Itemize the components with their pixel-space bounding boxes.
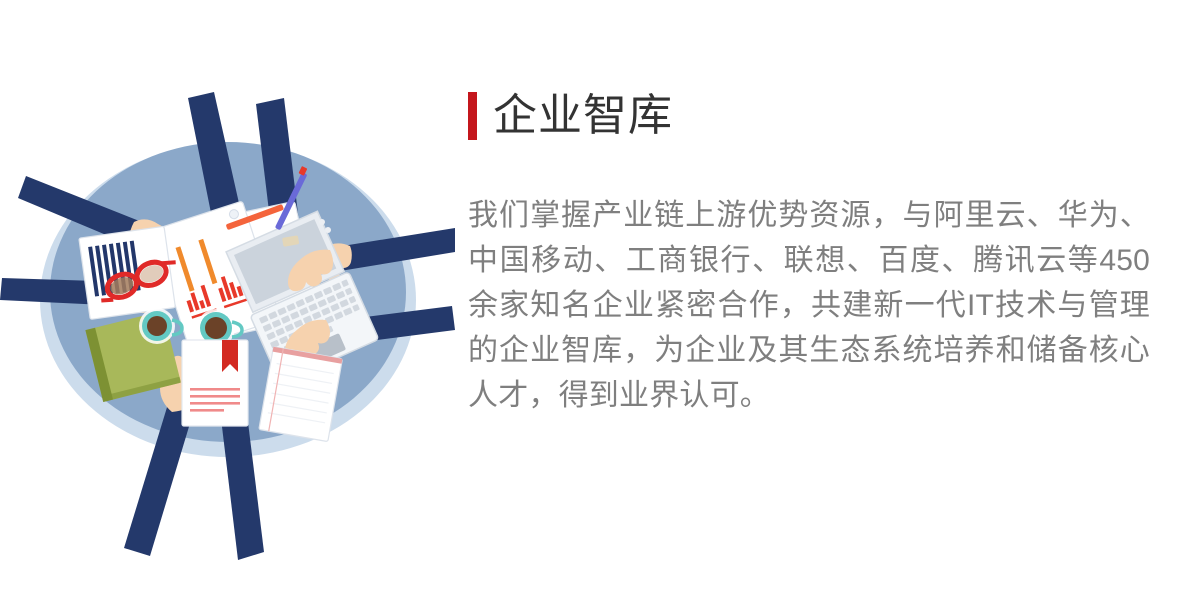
notepad [259,347,343,442]
text-content-column: 企业智库 我们掌握产业链上游优势资源，与阿里云、华为、中国移动、工商银行、联想、… [468,62,1158,418]
body-paragraph: 我们掌握产业链上游优势资源，与阿里云、华为、中国移动、工商银行、联想、百度、腾讯… [468,193,1150,418]
title-accent-bar [468,92,477,140]
certificate-with-ribbon [182,340,248,426]
page-title: 企业智库 [493,91,673,141]
page-root: 企业智库 我们掌握产业链上游优势资源，与阿里云、华为、中国移动、工商银行、联想、… [0,0,1199,597]
team-meeting-illustration [0,0,455,597]
illustration-svg [0,0,455,597]
section-title-row: 企业智库 [468,62,1158,171]
